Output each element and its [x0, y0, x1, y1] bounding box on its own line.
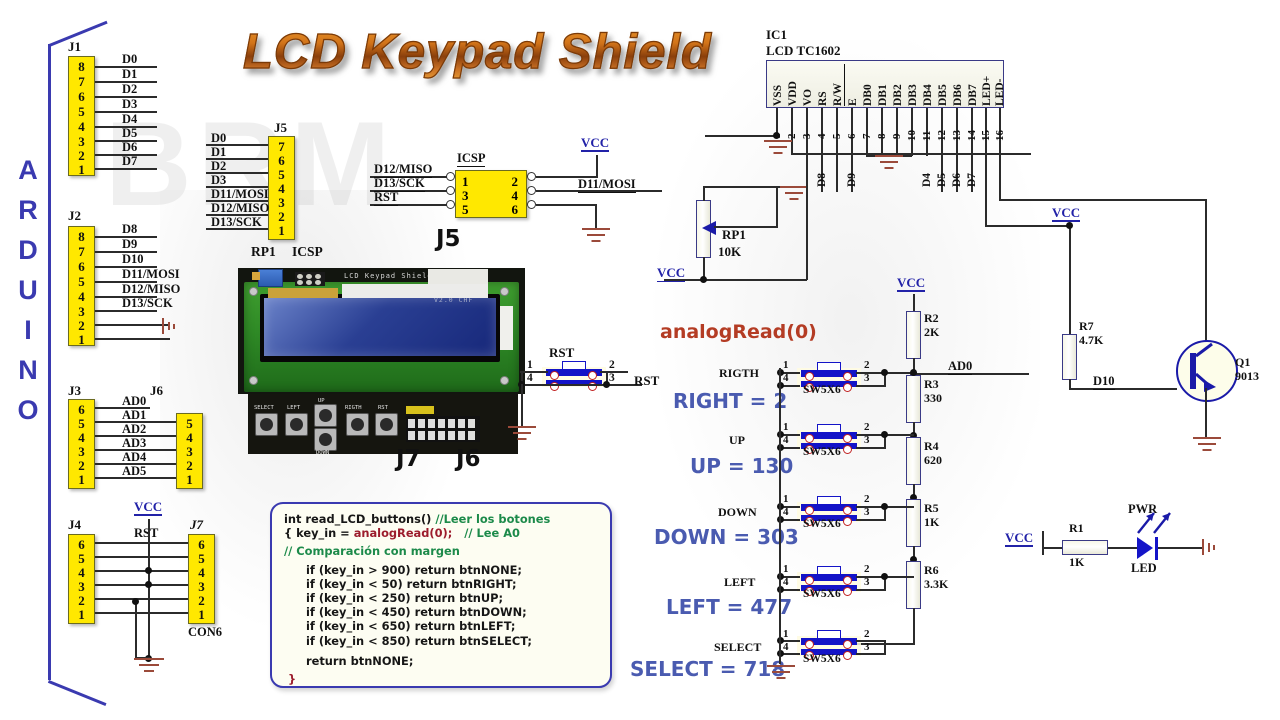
ground-symbol-rst: [507, 426, 537, 444]
ic1-pin-label-db2: DB2: [892, 64, 904, 106]
junction-dot: [145, 567, 152, 574]
code-line-11: }: [284, 668, 600, 686]
net-label-j5-d11: D11/MOSI: [211, 188, 269, 201]
net-label-d9: D9: [122, 238, 137, 251]
ic1-pin-number: 6: [846, 117, 858, 139]
connector-j3[interactable]: 6 5 4 3 2 1: [68, 399, 95, 489]
j7-label: J7: [190, 518, 203, 531]
schematic-canvas: BRM LCD Keypad Shield A R D U I N O J1 8…: [0, 0, 1280, 720]
sw-pin: 1: [783, 494, 789, 505]
net-label-icsp-rst: RST: [374, 191, 398, 206]
sw-pin: 2: [864, 360, 870, 371]
r5-ref-label: R5: [924, 502, 939, 514]
connector-icsp[interactable]: 1 3 5 2 4 6: [455, 170, 527, 218]
code-line-1: int read_LCD_buttons() //Leer los botone…: [284, 512, 600, 526]
junction-dot: [881, 431, 888, 438]
r1-ref-label: R1: [1069, 522, 1084, 534]
ic1-pin-number: 13: [951, 115, 963, 141]
photo-label-j7: J7: [396, 448, 421, 471]
wire-j4-j7-4: [95, 570, 188, 572]
code-comment-1: //Leer los botones: [435, 512, 550, 526]
r7-value-label: 4.7K: [1079, 334, 1103, 346]
ground-symbol-q1: [1192, 437, 1222, 455]
icsp-pad-4: [527, 186, 536, 195]
vcc-label-icsp: VCC: [581, 136, 609, 152]
wire-switch-common-bus: [779, 368, 781, 664]
resistor-r7: [1062, 334, 1077, 380]
ic1-ref-label: IC1: [766, 28, 787, 41]
ic1-pin-label-db3: DB3: [907, 64, 919, 106]
ic1-pin-label-db1: DB1: [877, 64, 889, 106]
j7-footprint-label: CON6: [188, 626, 222, 639]
ic1-net-d4: D4: [921, 163, 933, 187]
ground-symbol-j2: [160, 318, 182, 334]
net-label-ad2: AD2: [122, 423, 146, 436]
readout-right: RIGHT = 2: [673, 389, 787, 413]
connector-j4[interactable]: 6 5 4 3 2 1: [68, 534, 95, 624]
code-line-6: if (key_in < 250) return btnUP;: [284, 591, 600, 605]
ic1-pin-number: 14: [966, 115, 978, 141]
icsp-pin: 6: [512, 202, 519, 218]
ground-symbol-ic1-db: [874, 155, 904, 173]
q1-ref-label: Q1: [1235, 356, 1250, 368]
icsp-pin: 5: [462, 202, 469, 218]
photo-label-j5: J5: [436, 228, 461, 251]
net-label-d13-sck: D13/SCK: [122, 297, 173, 310]
ic1-pin-label-e: E: [847, 64, 859, 106]
wire-rst-right-top: [600, 371, 628, 373]
led-ref-label: LED: [1131, 562, 1157, 575]
sw-pin: 1: [783, 564, 789, 575]
junction-dot: [1066, 222, 1073, 229]
ic1-part-label: LCD TC1602: [766, 44, 841, 57]
resistor-r1: [1062, 540, 1108, 555]
ground-symbol-ic1-vss: [763, 140, 793, 158]
icsp-pad-3: [446, 186, 455, 195]
wire-rst-out: [521, 384, 641, 386]
junction-dot: [145, 581, 152, 588]
net-label-d2: D2: [122, 83, 137, 96]
net-label-d11-mosi: D11/MOSI: [122, 268, 180, 281]
j2-pin: 6: [69, 259, 94, 275]
ground-symbol-led: [1200, 539, 1222, 555]
j2-pin: 5: [69, 274, 94, 290]
r3-value-label: 330: [924, 392, 942, 404]
rp1-wiper-arrow-icon: [700, 218, 728, 238]
code-line-5: if (key_in < 50) return btnRIGHT;: [284, 577, 600, 591]
silk-button-select: SELECT: [254, 405, 274, 411]
ic1-pin-label-db7: DB7: [967, 64, 979, 106]
j1-pin: 7: [69, 74, 94, 90]
j1-pin: 5: [69, 104, 94, 120]
readout-up: UP = 130: [690, 454, 793, 478]
connector-j1[interactable]: 8 7 6 5 4 3 2 1: [68, 56, 95, 176]
sw-footprint: SW5X6: [803, 385, 841, 397]
readout-select: SELECT = 718: [630, 657, 785, 681]
analogread-annotation: analogRead(0): [660, 321, 817, 343]
wire-led-vcc-tick: [1042, 531, 1044, 555]
sw-pin: 4: [783, 435, 789, 446]
ic1-pin-label-db5: DB5: [937, 64, 949, 106]
r4-ref-label: R4: [924, 440, 939, 452]
net-label-d7: D7: [122, 155, 137, 168]
ic1-pin-label-vo: VO: [802, 64, 814, 106]
silk-button-rigth: RIGTH: [345, 405, 362, 411]
arduino-bracket-bottom: [48, 680, 106, 706]
wire-j4-j7-3: [95, 584, 188, 586]
net-label-j5-d1: D1: [211, 146, 226, 159]
rp1-value-label: 10K: [718, 245, 741, 258]
ic1-net-d8: D8: [816, 163, 828, 187]
sw-pin: 2: [864, 564, 870, 575]
sw-pin: 4: [783, 373, 789, 384]
rst-pin-1: 1: [527, 360, 533, 372]
wire-icsp-gnd-v: [595, 204, 597, 228]
wire-j4-gnd-branch: [135, 601, 137, 658]
photo-label-icsp: ICSP: [292, 245, 323, 259]
net-label-ad5: AD5: [122, 465, 146, 478]
net-label-j5-d12: D12/MISO: [211, 202, 269, 215]
ic1-pin-number: 11: [921, 115, 933, 141]
sw-pin: 4: [783, 577, 789, 588]
wire-ledminus-to-collector: [1205, 199, 1207, 341]
j2-pin: 8: [69, 229, 94, 245]
sw-pin: 3: [864, 435, 870, 446]
icsp-label: ICSP: [457, 152, 485, 167]
ground-symbol-j4: [133, 658, 165, 676]
net-label-d10: D10: [1093, 375, 1115, 390]
sw-pin: 3: [864, 373, 870, 384]
ic1-pin-label-rs: RS: [817, 64, 829, 106]
wire-down-r3: [856, 519, 886, 521]
wire-rp1-top: [703, 186, 705, 201]
j1-pin: 1: [69, 162, 94, 178]
net-label-d1: D1: [122, 68, 137, 81]
r6-value-label: 3.3K: [924, 578, 948, 590]
j1-label: J1: [68, 40, 81, 53]
wire-ic1-ledplus-h: [985, 225, 1071, 227]
sw-pin: 2: [864, 494, 870, 505]
wire-rp1-wiper-v: [776, 186, 778, 227]
sw-pin: 2: [864, 422, 870, 433]
wire-select-r3: [856, 653, 886, 655]
switch-rst[interactable]: [540, 361, 608, 391]
net-label-j5-d2: D2: [211, 160, 226, 173]
r3-ref-label: R3: [924, 378, 939, 390]
lcd-keypad-shield-photo: LCD Keypad Shield V2.0 CHF SELECT LEFT U…: [238, 258, 525, 458]
ic1-pin-number: 16: [994, 115, 1006, 141]
wire-select-r2: [856, 640, 886, 642]
net-label-rst-out: RST: [634, 374, 659, 387]
photo-label-j6: J6: [456, 448, 481, 471]
wire-j1-d7: [95, 168, 157, 170]
code-comment-3: // Comparación con margen: [284, 540, 600, 558]
j4-label: J4: [68, 518, 81, 531]
wire-j4-j7-5: [95, 556, 188, 558]
vcc-label-main-rail: VCC: [1052, 206, 1080, 222]
wire-ic1-p1-gnd-h: [705, 135, 777, 137]
j5-pin: 1: [269, 223, 294, 239]
rst-pin-4: 4: [527, 373, 533, 385]
silk-button-rst: RST: [378, 405, 388, 411]
net-label-d10: D10: [122, 253, 144, 266]
net-label-icsp-d11: D11/MOSI: [578, 178, 636, 193]
j3-pin: 1: [69, 472, 94, 488]
junction-dot: [700, 276, 707, 283]
net-label-ad0: AD0: [122, 395, 146, 408]
wire-led-vcc-h: [1042, 547, 1063, 549]
wire-up-r3: [856, 447, 886, 449]
readout-left: LEFT = 477: [666, 595, 792, 619]
ground-symbol-switch-bus: [766, 665, 796, 683]
wire-rigth-r3: [856, 385, 886, 387]
arduino-letter: O: [10, 390, 46, 430]
sw-footprint: SW5X6: [803, 589, 841, 601]
net-label-ad0-ladder: AD0: [948, 360, 972, 375]
net-label-j5-d0: D0: [211, 132, 226, 145]
silk-button-left: LEFT: [287, 405, 300, 411]
ic1-net-d9: D9: [846, 163, 858, 187]
icsp-pad-2: [527, 172, 536, 181]
icsp-pad-5: [446, 200, 455, 209]
silk-button-down: DOWN: [316, 450, 329, 456]
ic1-pin-label-db4: DB4: [922, 64, 934, 106]
ic1-pin-number: 9: [891, 117, 903, 139]
silk-button-up: UP: [318, 398, 325, 404]
arduino-letter: I: [10, 310, 46, 350]
net-label-ad4: AD4: [122, 451, 146, 464]
net-label-j5-d3: D3: [211, 174, 226, 187]
sw-pin: 1: [783, 422, 789, 433]
ic1-pin-number: 4: [816, 117, 828, 139]
code-comment-2: // Lee A0: [456, 526, 520, 540]
wire-r1-led: [1108, 547, 1137, 549]
code-line-4: if (key_in > 900) return btnNONE;: [284, 559, 600, 577]
silk-top-text: LCD Keypad Shield: [344, 272, 433, 280]
rst-switch-label: RST: [549, 346, 574, 359]
ground-symbol-rp1: [779, 186, 809, 204]
net-label-d3: D3: [122, 98, 137, 111]
r4-value-label: 620: [924, 454, 942, 466]
wire-select-rlink: [884, 640, 886, 654]
vcc-label-ladder: VCC: [897, 276, 925, 292]
sw-pin: 4: [783, 507, 789, 518]
r1-value-label: 1K: [1069, 556, 1084, 568]
photo-label-rp1: RP1: [251, 245, 276, 259]
sw-pin: 1: [783, 360, 789, 371]
code-line-10: return btnNONE;: [284, 648, 600, 668]
connector-j5[interactable]: 7 6 5 4 3 2 1: [268, 136, 295, 240]
ic1-pin-label-led-minus: LED-: [994, 62, 1006, 106]
ic1-pin-number: 8: [876, 117, 888, 139]
code-snippet-box: int read_LCD_buttons() //Leer los botone…: [270, 502, 612, 688]
ic1-pin-number: 12: [936, 115, 948, 141]
led-anode-triangle-icon: [1137, 537, 1153, 559]
sw-pin: 3: [864, 577, 870, 588]
code-line-9: if (key_in < 850) return btnSELECT;: [284, 634, 600, 648]
wire-icsp-gnd-h: [536, 204, 596, 206]
key-label-up: UP: [729, 434, 745, 446]
led-pwr-label: PWR: [1128, 503, 1157, 516]
resistor-r3: [906, 375, 921, 423]
ic1-pin-label-db6: DB6: [952, 64, 964, 106]
ic1-pin-number: 2: [786, 117, 798, 139]
wire-r6-bottom: [913, 608, 915, 644]
junction-dot: [603, 381, 610, 388]
sw-footprint: SW5X6: [803, 654, 841, 666]
arduino-letter: N: [10, 350, 46, 390]
vcc-label-rp1: VCC: [657, 266, 685, 282]
r2-value-label: 2K: [924, 326, 939, 338]
wire-left-r3: [856, 589, 886, 591]
arduino-letter: D: [10, 230, 46, 270]
net-label-d5: D5: [122, 127, 137, 140]
ic1-pin-number: 15: [980, 115, 992, 141]
sw-pin: 1: [783, 629, 789, 640]
sw-footprint: SW5X6: [803, 519, 841, 531]
j2-pin: 7: [69, 244, 94, 260]
vcc-label-j4: VCC: [134, 500, 162, 516]
j3-label: J3: [68, 384, 81, 397]
j1-pin: 6: [69, 89, 94, 105]
sw-pin: 4: [783, 642, 789, 653]
wire-ic1-vdd-rail: [791, 153, 1031, 155]
arduino-letter: U: [10, 270, 46, 310]
connector-j7[interactable]: 6 5 4 3 2 1: [188, 534, 215, 624]
arduino-letter: A: [10, 150, 46, 190]
net-label-d8: D8: [122, 223, 137, 236]
wire-icsp-vcc-v: [596, 155, 598, 177]
junction-dot: [881, 573, 888, 580]
wire-rst-gnd: [521, 384, 523, 426]
ic1-net-d7: D7: [966, 163, 978, 187]
wire-led-gnd: [1158, 547, 1204, 549]
code-analogread-call: analogRead(0);: [354, 526, 453, 540]
junction-dot: [773, 132, 780, 139]
wire-vcc-rail-down-r7: [1069, 224, 1071, 336]
wire-rp1-vcc: [664, 279, 807, 281]
wire-j2-p2: [95, 324, 170, 326]
wire-j2-d13: [95, 310, 157, 312]
ic1-pin-label-db0: DB0: [862, 64, 874, 106]
sw-pin: 2: [864, 629, 870, 640]
ic1-pin-number: 7: [861, 117, 873, 139]
wire-j4-j7-1: [95, 612, 188, 614]
net-label-d4: D4: [122, 113, 137, 126]
j1-pin: 4: [69, 119, 94, 135]
net-label-d12-miso: D12/MISO: [122, 283, 180, 296]
net-label-rst-j4: RST: [134, 527, 158, 541]
readout-down: DOWN = 303: [654, 525, 799, 549]
net-label-j5-d13: D13/SCK: [211, 216, 262, 229]
junction-dot: [881, 369, 888, 376]
j2-label: J2: [68, 209, 81, 222]
junction-dot: [910, 369, 917, 376]
arduino-bracket-spine: [48, 44, 51, 680]
wire-j4-j7-6: [95, 542, 188, 544]
wire-vcc-r2: [913, 294, 915, 312]
wire-rp1-wiper: [714, 226, 778, 228]
arduino-side-label: A R D U I N O: [10, 150, 46, 430]
q1-value-label: 9013: [1235, 370, 1259, 382]
j6-label: J6: [150, 384, 163, 397]
key-label-rigth: RIGTH: [719, 367, 759, 379]
j7-pin: 1: [189, 607, 214, 623]
sw-pin: 3: [864, 507, 870, 518]
wire-q1-base: [1069, 388, 1177, 390]
net-label-ad1: AD1: [122, 409, 146, 422]
wire-rp1-vcc-v: [806, 224, 808, 280]
page-title: LCD Keypad Shield: [243, 24, 712, 80]
vcc-label-led: VCC: [1005, 531, 1033, 547]
ic1-net-d6: D6: [951, 163, 963, 187]
j6-pin: 1: [177, 472, 202, 488]
ground-symbol-icsp: [581, 228, 611, 246]
j4-pin: 1: [69, 607, 94, 623]
r7-ref-label: R7: [1079, 320, 1094, 332]
icsp-pad-1: [446, 172, 455, 181]
ic1-net-d5: D5: [936, 163, 948, 187]
key-label-left: LEFT: [724, 576, 755, 588]
ic1-pin-number: 10: [906, 115, 918, 141]
junction-dot: [132, 598, 139, 605]
code-line-2: { key_in = analogRead(0); // Lee A0: [284, 526, 600, 540]
wire-j2-p1: [95, 338, 170, 340]
net-label-d0: D0: [122, 53, 137, 66]
resistor-r6: [906, 561, 921, 609]
key-label-down: DOWN: [718, 506, 757, 518]
wire-rst-left-top: [520, 371, 548, 373]
wire-vcc-j4-rail: [148, 519, 150, 658]
r6-ref-label: R6: [924, 564, 939, 576]
code-open-brace-key: { key_in =: [284, 526, 354, 540]
ic1-pin-label-led-plus: LED+: [981, 62, 993, 106]
code-line-7: if (key_in < 450) return btnDOWN;: [284, 605, 600, 619]
wire-ic1-ledminus-h: [999, 199, 1206, 201]
resistor-r4: [906, 437, 921, 485]
sw-pin: 3: [864, 642, 870, 653]
resistor-r2: [906, 311, 921, 359]
ic1-pin-number: 3: [801, 117, 813, 139]
r5-value-label: 1K: [924, 516, 939, 528]
junction-dot: [881, 503, 888, 510]
wire-q1-emitter: [1205, 388, 1207, 438]
sw-footprint: SW5X6: [803, 447, 841, 459]
arduino-letter: R: [10, 190, 46, 230]
key-label-select: SELECT: [714, 641, 761, 653]
j1-pin: 8: [69, 59, 94, 75]
j2-pin: 4: [69, 289, 94, 305]
ic1-pin-label-vss: VSS: [772, 64, 784, 106]
code-line-8: if (key_in < 650) return btnLEFT;: [284, 619, 600, 633]
ic1-pin-label-rw: R/W: [832, 64, 845, 106]
ic1-pin-label-vdd: VDD: [787, 64, 799, 106]
icsp-pad-6: [527, 200, 536, 209]
connector-j6[interactable]: 5 4 3 2 1: [176, 413, 203, 489]
rst-pin-2: 2: [609, 360, 615, 372]
ic1-pin-number: 5: [831, 117, 843, 139]
r2-ref-label: R2: [924, 312, 939, 324]
wire-j4-j7-2: [95, 598, 188, 600]
net-label-ad3: AD3: [122, 437, 146, 450]
net-label-d6: D6: [122, 141, 137, 154]
j5-label: J5: [274, 121, 287, 134]
j2-pin: 1: [69, 332, 94, 348]
code-fn-signature: int read_LCD_buttons(): [284, 512, 431, 526]
connector-j2[interactable]: 8 7 6 5 4 3 2 1: [68, 226, 95, 346]
